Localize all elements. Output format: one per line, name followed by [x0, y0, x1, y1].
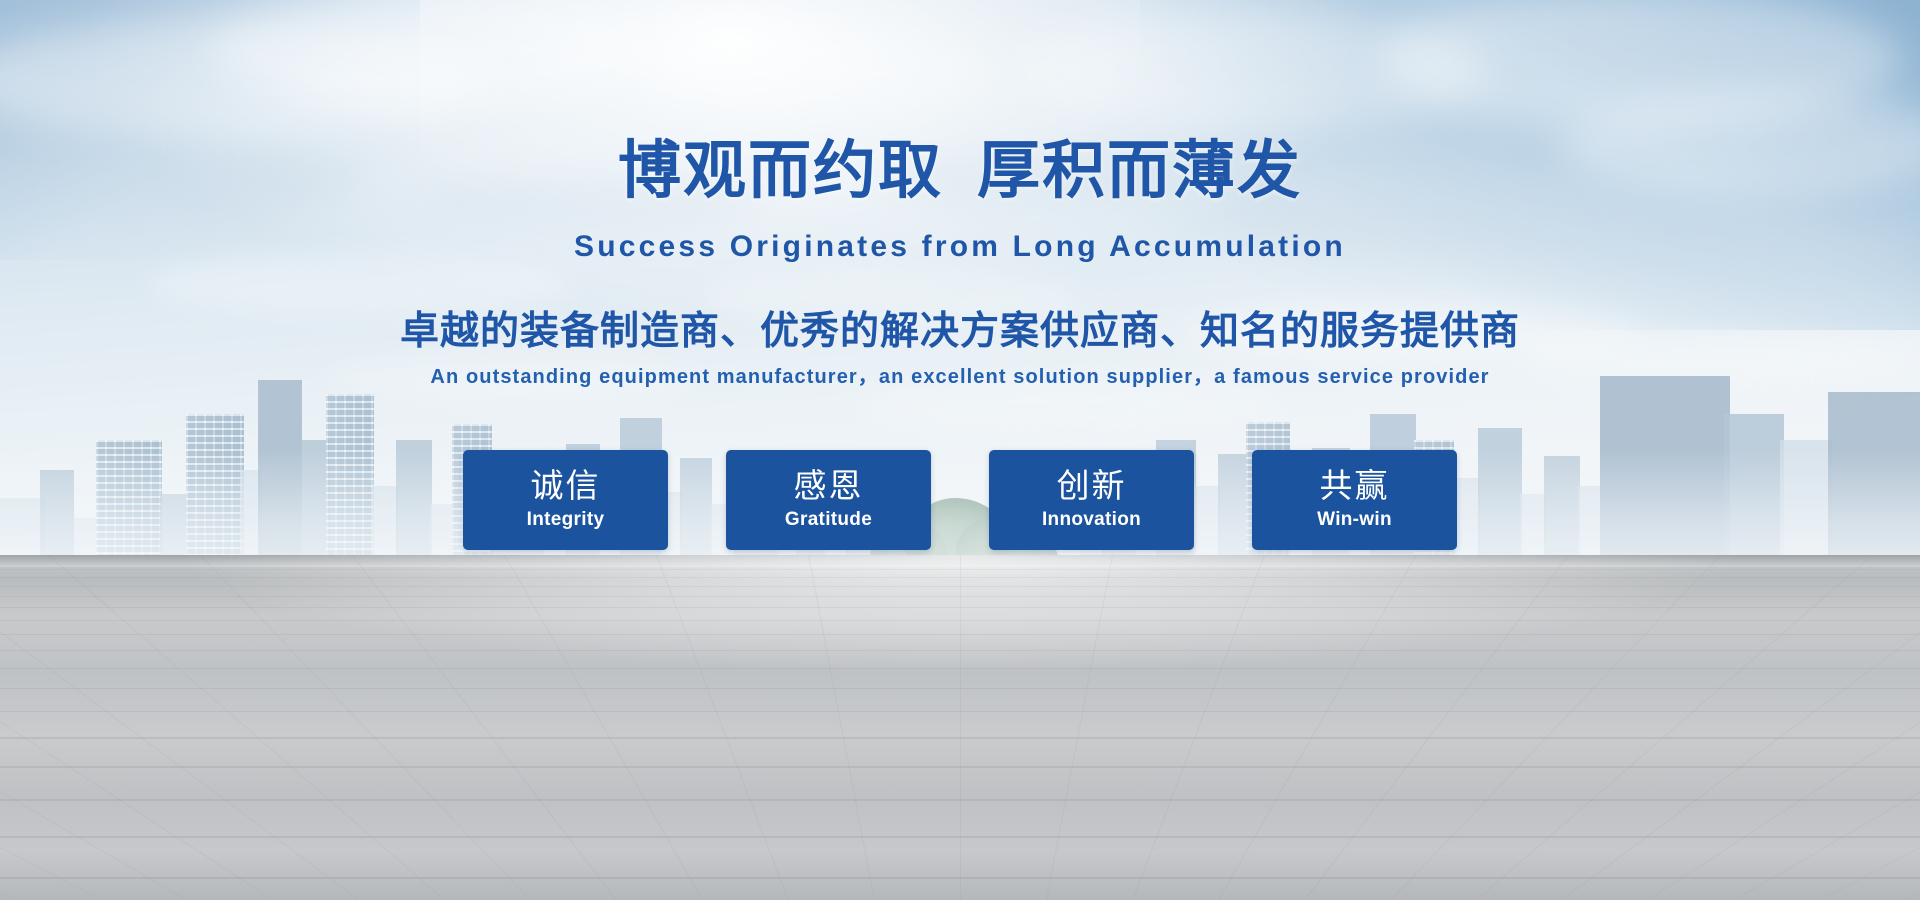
hero-banner: 博观而约取厚积而薄发 Success Originates from Long … — [0, 0, 1920, 900]
value-card-integrity[interactable]: 诚信Integrity — [463, 450, 668, 550]
banner-content: 博观而约取厚积而薄发 Success Originates from Long … — [0, 0, 1920, 900]
value-card-label-en: Innovation — [1042, 509, 1141, 531]
value-card-gratitude[interactable]: 感恩Gratitude — [726, 450, 931, 550]
value-card-label-cn: 创新 — [1057, 469, 1127, 504]
value-card-label-en: Integrity — [527, 509, 605, 531]
value-card-label-cn: 感恩 — [794, 469, 864, 504]
headline-chinese: 博观而约取厚积而薄发 — [0, 120, 1920, 211]
value-card-innovation[interactable]: 创新Innovation — [989, 450, 1194, 550]
headline-chinese-part1: 博观而约取 — [618, 134, 943, 207]
value-card-label-en: Gratitude — [785, 509, 872, 531]
value-card-win-win[interactable]: 共赢Win-win — [1252, 450, 1457, 550]
tagline-chinese: 卓越的装备制造商、优秀的解决方案供应商、知名的服务提供商 — [0, 300, 1920, 356]
headline-english: Success Originates from Long Accumulatio… — [0, 230, 1920, 264]
value-card-label-cn: 共赢 — [1320, 469, 1390, 504]
value-card-label-en: Win-win — [1317, 509, 1392, 531]
core-values-list: 诚信Integrity感恩Gratitude创新Innovation共赢Win-… — [0, 450, 1920, 550]
value-card-label-cn: 诚信 — [531, 469, 601, 504]
headline-chinese-part2: 厚积而薄发 — [977, 134, 1302, 207]
tagline-english: An outstanding equipment manufacturer，an… — [0, 360, 1920, 389]
